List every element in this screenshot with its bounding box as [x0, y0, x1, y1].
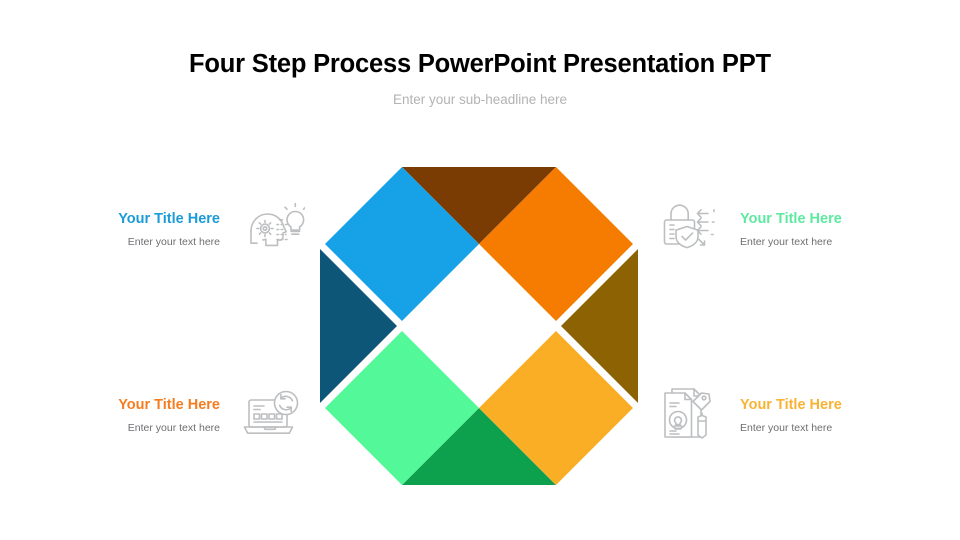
block-body-bottom-left: Enter your text here [40, 422, 220, 434]
lock-shield-arrows-icon [658, 196, 720, 258]
page-title: Four Step Process PowerPoint Presentatio… [0, 50, 960, 79]
block-title-top-right: Your Title Here [740, 211, 920, 228]
text-block-bottom-right[interactable]: Your Title Here Enter your text here [740, 397, 920, 434]
slide-canvas: Four Step Process PowerPoint Presentatio… [0, 0, 960, 540]
octagon-pinwheel-diagram [318, 165, 640, 487]
page-subtitle: Enter your sub-headline here [0, 92, 960, 107]
block-title-bottom-left: Your Title Here [40, 397, 220, 414]
block-body-bottom-right: Enter your text here [740, 422, 920, 434]
document-lightbulb-pencil-icon [657, 382, 719, 444]
head-gear-lightbulb-icon [243, 198, 305, 260]
text-block-bottom-left[interactable]: Your Title Here Enter your text here [40, 397, 220, 434]
block-body-top-left: Enter your text here [40, 236, 220, 248]
block-title-bottom-right: Your Title Here [740, 397, 920, 414]
text-block-top-right[interactable]: Your Title Here Enter your text here [740, 211, 920, 248]
text-block-top-left[interactable]: Your Title Here Enter your text here [40, 211, 220, 248]
block-body-top-right: Enter your text here [740, 236, 920, 248]
laptop-refresh-icon [240, 384, 302, 446]
block-title-top-left: Your Title Here [40, 211, 220, 228]
